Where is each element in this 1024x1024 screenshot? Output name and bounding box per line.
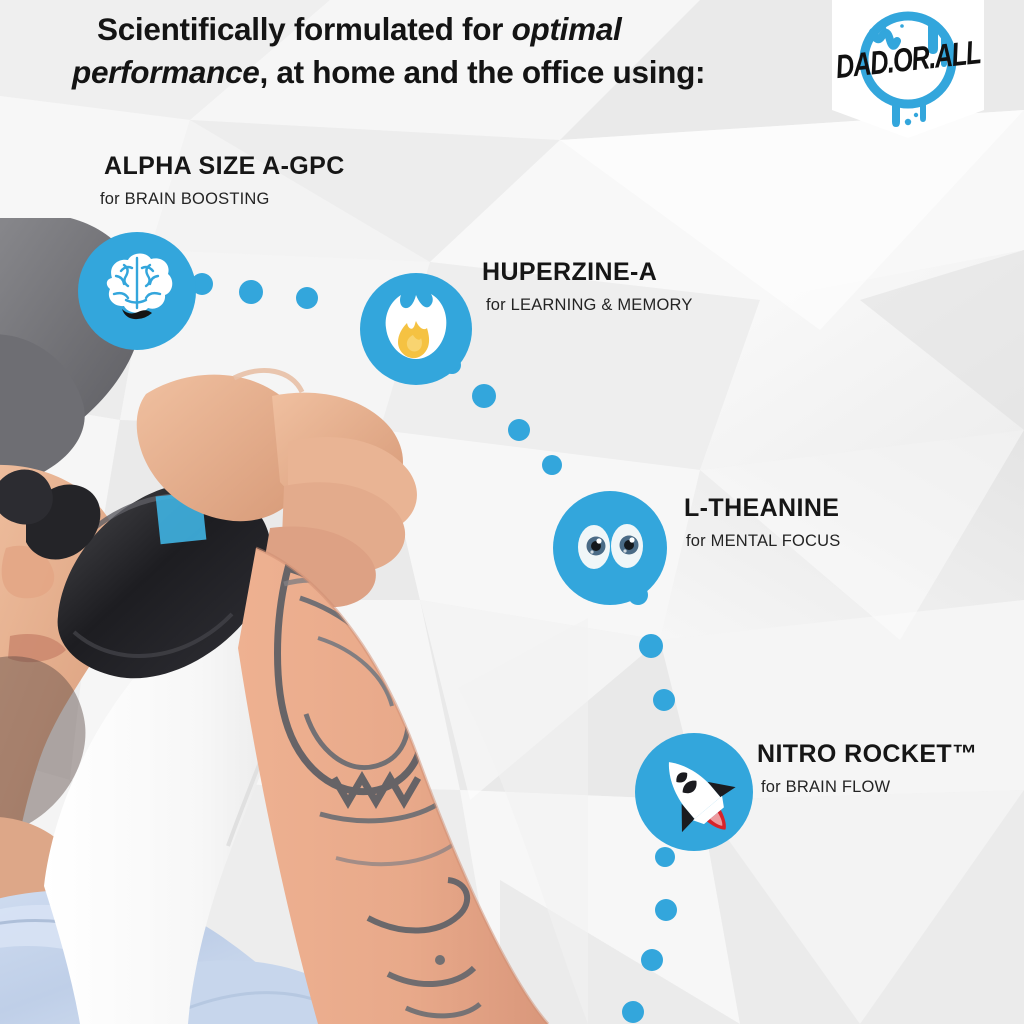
ingredient-benefit: for BRAIN BOOSTING [100,190,345,209]
trail-dot [542,455,562,475]
trail-dot [508,419,530,441]
ingredient-badge-l-theanine[interactable] [553,491,667,605]
headline: Scientifically formulated for optimal pe… [72,8,772,93]
ingredient-name: ALPHA SIZE A-GPC [104,152,345,181]
ingredient-benefit: for BRAIN FLOW [761,778,977,797]
headline-emphasis-performance: performance [72,54,260,90]
ingredient-badge-alpha-size-a-gpc[interactable] [78,232,196,350]
headline-line-1: Scientifically formulated for optimal [72,8,772,51]
ingredient-label-huperzine-a: HUPERZINE-A for LEARNING & MEMORY [482,258,693,315]
ingredient-badge-nitro-rocket[interactable] [635,733,753,851]
headline-line-2-plain: , at home and the office using: [260,54,706,90]
trail-dot [239,280,263,304]
eyes-icon [553,491,667,605]
ingredient-name: NITRO ROCKET™ [757,740,977,769]
trail-dot [641,949,663,971]
infographic-canvas: Scientifically formulated for optimal pe… [0,0,1024,1024]
rocket-icon [635,733,753,851]
ingredient-benefit: for LEARNING & MEMORY [486,296,693,315]
ingredient-name: L-THEANINE [684,494,840,523]
ingredient-label-l-theanine: L-THEANINE for MENTAL FOCUS [684,494,840,551]
ingredient-label-nitro-rocket: NITRO ROCKET™ for BRAIN FLOW [757,740,977,797]
headline-line-1-plain: Scientifically formulated for [97,11,512,47]
ingredient-benefit: for MENTAL FOCUS [686,532,840,551]
trail-dot [622,1001,644,1023]
ingredient-label-alpha-size-a-gpc: ALPHA SIZE A-GPC for BRAIN BOOSTING [104,152,345,209]
ingredient-badge-huperzine-a[interactable] [360,273,472,385]
trail-dot [639,634,663,658]
brain-icon [78,232,196,350]
trail-dot [653,689,675,711]
headline-emphasis-optimal: optimal [512,11,622,47]
headline-line-2: performance, at home and the office usin… [72,51,772,94]
brand-logo-banner[interactable]: DAD.OR.ALL [832,0,984,138]
trail-dot [296,287,318,309]
trail-dot [655,899,677,921]
ingredient-name: HUPERZINE-A [482,258,693,287]
trail-dot [472,384,496,408]
flame-icon [360,273,472,385]
